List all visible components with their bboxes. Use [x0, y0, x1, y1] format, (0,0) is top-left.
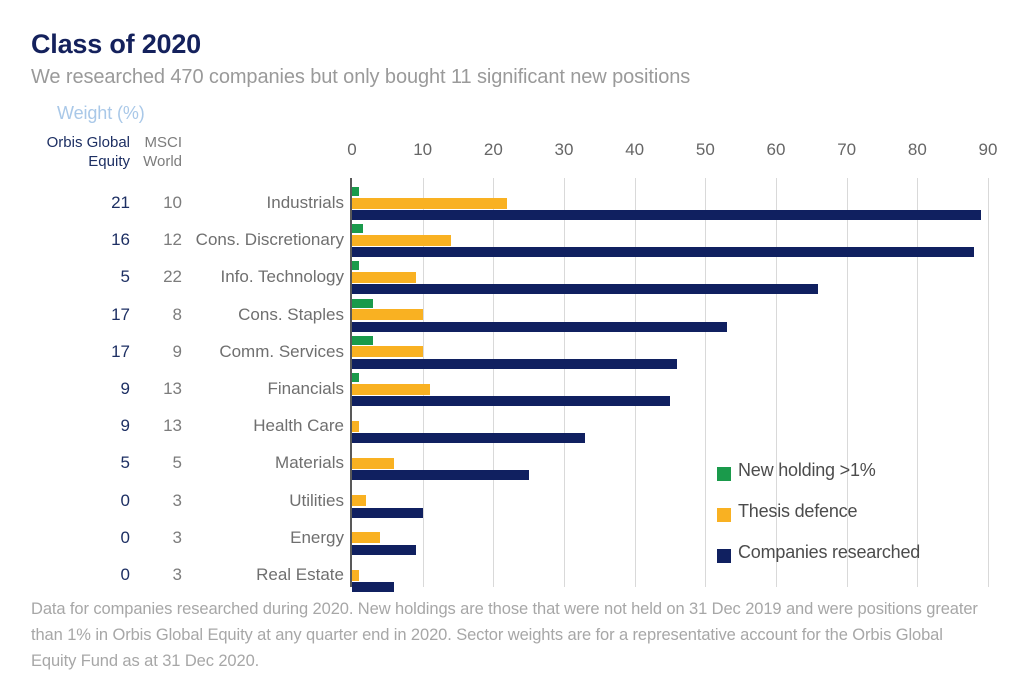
bar-companies-researched [352, 470, 529, 480]
bar-thesis-defence [352, 384, 430, 395]
bar-new-holding-1 [352, 373, 359, 382]
legend-swatch-icon [717, 549, 731, 563]
bar-thesis-defence [352, 309, 423, 320]
column-header-msci-world: MSCI World [132, 133, 182, 171]
weight-orbis-global-equity: 0 [12, 565, 130, 585]
bar-new-holding-1 [352, 299, 373, 308]
bar-companies-researched [352, 508, 423, 518]
bar-new-holding-1 [352, 336, 373, 345]
x-tick-label-40: 40 [615, 140, 655, 160]
weight-orbis-global-equity: 21 [12, 193, 130, 213]
category-label: Info. Technology [160, 267, 344, 287]
x-tick-label-0: 0 [332, 140, 372, 160]
category-label: Real Estate [160, 565, 344, 585]
bar-companies-researched [352, 359, 677, 369]
chart-row: 178Cons. Staples [0, 297, 1031, 334]
bar-thesis-defence [352, 495, 366, 506]
category-label: Materials [160, 453, 344, 473]
bar-companies-researched [352, 210, 981, 220]
bar-companies-researched [352, 284, 818, 294]
category-label: Industrials [160, 193, 344, 213]
weight-orbis-global-equity: 9 [12, 379, 130, 399]
footnote: Data for companies researched during 202… [31, 596, 991, 674]
bar-companies-researched [352, 582, 394, 592]
page-subtitle: We researched 470 companies but only bou… [31, 64, 690, 90]
bar-companies-researched [352, 322, 727, 332]
bar-thesis-defence [352, 198, 507, 209]
bar-thesis-defence [352, 346, 423, 357]
chart-row: 913Health Care [0, 408, 1031, 445]
bar-thesis-defence [352, 532, 380, 543]
legend-label: Companies researched [738, 542, 920, 563]
weight-orbis-global-equity: 0 [12, 528, 130, 548]
chart-row: 03Utilities [0, 483, 1031, 520]
weight-orbis-global-equity: 0 [12, 491, 130, 511]
legend-swatch-icon [717, 467, 731, 481]
weight-orbis-global-equity: 9 [12, 416, 130, 436]
weight-orbis-global-equity: 16 [12, 230, 130, 250]
category-label: Energy [160, 528, 344, 548]
page-title: Class of 2020 [31, 27, 201, 61]
bar-companies-researched [352, 396, 670, 406]
chart-row: 55Materials [0, 445, 1031, 482]
chart-row: 179Comm. Services [0, 334, 1031, 371]
bar-new-holding-1 [352, 187, 359, 196]
bar-companies-researched [352, 247, 974, 257]
weight-unit-label: Weight (%) [57, 103, 145, 124]
category-label: Cons. Discretionary [160, 230, 344, 250]
bar-thesis-defence [352, 272, 416, 283]
bar-thesis-defence [352, 458, 394, 469]
x-tick-label-90: 90 [968, 140, 1008, 160]
weight-orbis-global-equity: 17 [12, 342, 130, 362]
category-label: Comm. Services [160, 342, 344, 362]
x-tick-label-10: 10 [403, 140, 443, 160]
legend-swatch-icon [717, 508, 731, 522]
x-tick-label-50: 50 [685, 140, 725, 160]
category-label: Utilities [160, 491, 344, 511]
chart-row: 913Financials [0, 371, 1031, 408]
category-label: Financials [160, 379, 344, 399]
category-label: Health Care [160, 416, 344, 436]
bar-thesis-defence [352, 235, 451, 246]
bar-companies-researched [352, 545, 416, 555]
chart-row: 1612Cons. Discretionary [0, 222, 1031, 259]
category-label: Cons. Staples [160, 305, 344, 325]
column-header-orbis-global-equity: Orbis Global Equity [12, 133, 130, 171]
bar-new-holding-1 [352, 261, 359, 270]
bar-thesis-defence [352, 570, 359, 581]
bar-thesis-defence [352, 421, 359, 432]
chart-row: 2110Industrials [0, 185, 1031, 222]
bar-companies-researched [352, 433, 585, 443]
x-tick-label-80: 80 [897, 140, 937, 160]
bar-new-holding-1 [352, 224, 363, 233]
x-tick-label-60: 60 [756, 140, 796, 160]
chart-row: 522Info. Technology [0, 259, 1031, 296]
legend-label: New holding >1% [738, 460, 876, 481]
x-tick-label-20: 20 [473, 140, 513, 160]
legend-label: Thesis defence [738, 501, 857, 522]
weight-orbis-global-equity: 5 [12, 267, 130, 287]
chart-page: Class of 2020 We researched 470 companie… [0, 0, 1031, 695]
x-tick-label-30: 30 [544, 140, 584, 160]
weight-orbis-global-equity: 5 [12, 453, 130, 473]
x-tick-label-70: 70 [827, 140, 867, 160]
weight-orbis-global-equity: 17 [12, 305, 130, 325]
